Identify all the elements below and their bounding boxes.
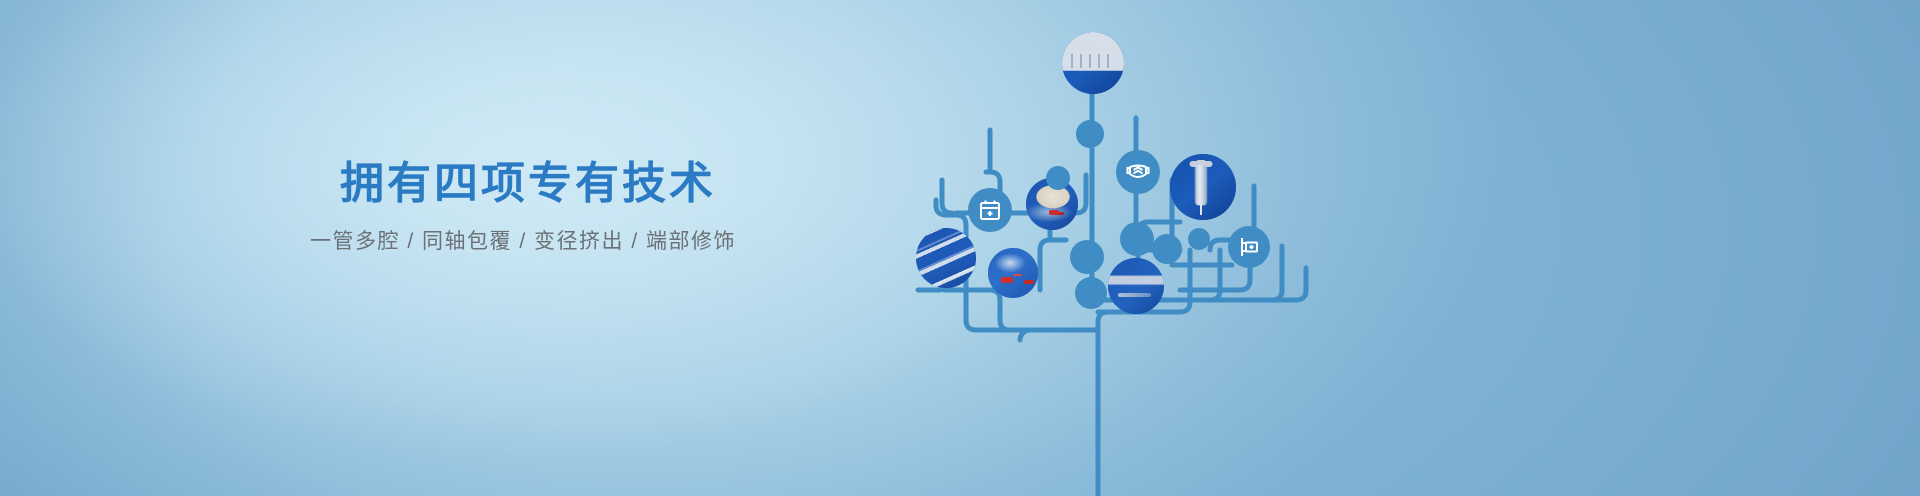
node-balloon-catheter-photo[interactable] (1108, 258, 1164, 314)
catheter-tubes-photo (916, 228, 976, 288)
node-hospital-sign[interactable] (1228, 226, 1270, 268)
node-calendar-plus[interactable] (968, 188, 1012, 232)
node-sterile-package-photo[interactable] (1062, 32, 1124, 94)
banner-subtitle: 一管多腔 / 同轴包覆 / 变径挤出 / 端部修饰 (310, 228, 830, 255)
dot-node-7 (1046, 166, 1070, 190)
sterile-package-photo (1062, 32, 1124, 94)
syringe-needle (1200, 205, 1202, 214)
node-syringe-photo[interactable] (1170, 154, 1236, 220)
hospital-sign-icon (1228, 226, 1270, 268)
dot-node-1 (1070, 240, 1104, 274)
node-face-mask[interactable] (1116, 150, 1160, 194)
product-technology-tree (880, 0, 1920, 496)
node-stopcock-valve-photo[interactable] (988, 248, 1038, 298)
dot-node-4 (1152, 234, 1182, 264)
dot-node-6 (1076, 120, 1104, 148)
syringe-photo (1170, 154, 1236, 220)
balloon-catheter-photo (1108, 258, 1164, 314)
dot-node-5 (1188, 228, 1210, 250)
banner-text-block: 拥有四项专有技术 一管多腔 / 同轴包覆 / 变径挤出 / 端部修饰 (310, 158, 830, 255)
calendar-plus-icon (968, 188, 1012, 232)
banner-title: 拥有四项专有技术 (340, 158, 830, 210)
node-catheter-tubes-photo[interactable] (916, 228, 976, 288)
syringe-plunger (1190, 161, 1213, 167)
technology-banner: 拥有四项专有技术 一管多腔 / 同轴包覆 / 变径挤出 / 端部修饰 (0, 0, 1920, 496)
dot-node-2 (1075, 277, 1107, 309)
dot-node-3 (1120, 222, 1154, 256)
face-mask-icon (1116, 150, 1160, 194)
stopcock-valve-photo (988, 248, 1038, 298)
